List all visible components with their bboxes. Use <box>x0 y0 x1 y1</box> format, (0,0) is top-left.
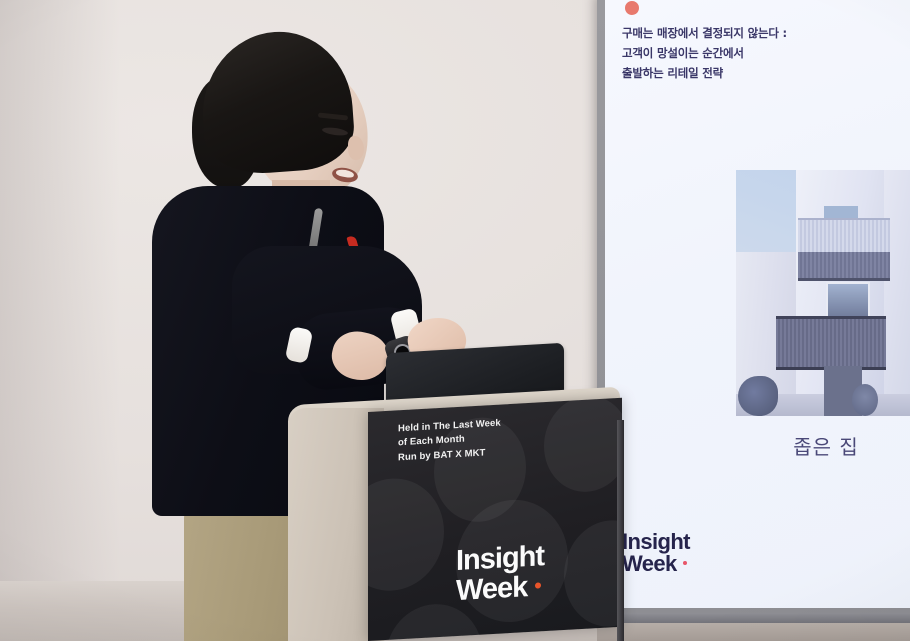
lectern-blob-shape <box>368 476 444 594</box>
projection-screen: 구매는 매장에서 결정되지 않는다 : 고객이 망설이는 순간에서 출발하는 리… <box>605 0 910 608</box>
slide-logo-line-2: Week <box>622 553 690 575</box>
slide-photo-narrow-house <box>736 170 910 416</box>
presenter-nose <box>348 136 364 160</box>
lectern-logo-line-2: Week <box>456 572 544 607</box>
lectern-logo-dot <box>535 582 541 588</box>
slide-logo-line-1: Insight <box>622 531 690 553</box>
photo-lower-balcony-panel <box>776 316 886 370</box>
screen-bottom-bar <box>597 613 910 623</box>
slide-title: 구매는 매장에서 결정되지 않는다 : 고객이 망설이는 순간에서 출발하는 리… <box>622 24 887 83</box>
photo-plant-left <box>738 376 778 416</box>
lectern-brand-logo: Insight Week <box>456 542 544 606</box>
presenter-hair <box>197 27 356 177</box>
slide-caption: 좁은 집 <box>736 431 910 460</box>
presentation-photo: 구매는 매장에서 결정되지 않는다 : 고객이 망설이는 순간에서 출발하는 리… <box>0 0 910 641</box>
lectern-front-panel: Held in The Last Week of Each Month Run … <box>368 398 622 641</box>
lectern-blob-shape <box>386 602 482 641</box>
photo-upper-balcony-mesh <box>798 218 890 254</box>
photo-plant-right <box>852 384 878 416</box>
lectern-blob-shape <box>544 398 622 494</box>
photo-upper-balcony-panel <box>798 252 890 281</box>
lectern-event-info: Held in The Last Week of Each Month Run … <box>398 417 501 466</box>
lectern-right-edge <box>617 420 624 641</box>
slide-accent-dot <box>625 1 639 15</box>
lectern-blob-shape <box>564 518 622 629</box>
slide-logo-dot <box>683 561 687 565</box>
photo-right-facade <box>884 170 910 416</box>
slide-brand-logo: Insight Week <box>622 531 690 576</box>
screen-base-shadow <box>597 623 910 641</box>
